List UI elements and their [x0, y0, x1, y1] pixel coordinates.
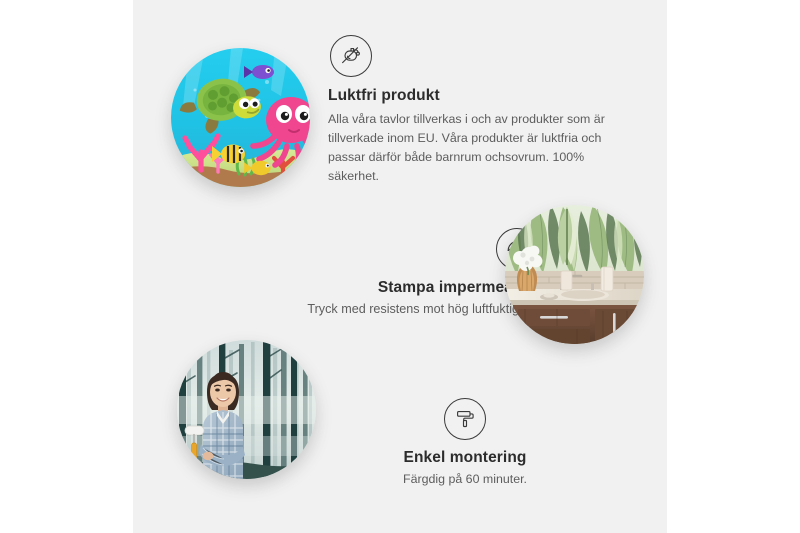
photo-forest [177, 340, 316, 479]
feature-block-waterproof: Stampa impermeabile Tryck med resistens … [210, 228, 540, 320]
bathroom-scene-art [505, 205, 644, 344]
forest-scene-art [177, 340, 316, 479]
perfume-bottle-no-smell-icon [330, 35, 372, 77]
feature-title: Stampa impermeabile [210, 278, 540, 297]
photo-bathroom [505, 205, 644, 344]
feature-body: Alla våra tavlor tillverkas i och av pro… [328, 110, 624, 185]
feature-block-odourless: Luktfri produkt Alla våra tavlor tillver… [328, 35, 624, 186]
feature-title: Luktfri produkt [328, 86, 624, 105]
feature-body: Färgdig på 60 minuter. [333, 470, 597, 489]
paint-roller-icon [444, 398, 486, 440]
promo-banner: Luktfri produkt Alla våra tavlor tillver… [0, 0, 800, 533]
photo-underwater [171, 48, 310, 187]
feature-title: Enkel montering [333, 448, 597, 467]
content-panel: Luktfri produkt Alla våra tavlor tillver… [133, 0, 667, 533]
feature-body: Tryck med resistens mot hög luftfuktighe… [210, 300, 540, 319]
underwater-scene-art [171, 48, 310, 187]
feature-block-mounting: Enkel montering Färgdig på 60 minuter. [333, 398, 597, 489]
